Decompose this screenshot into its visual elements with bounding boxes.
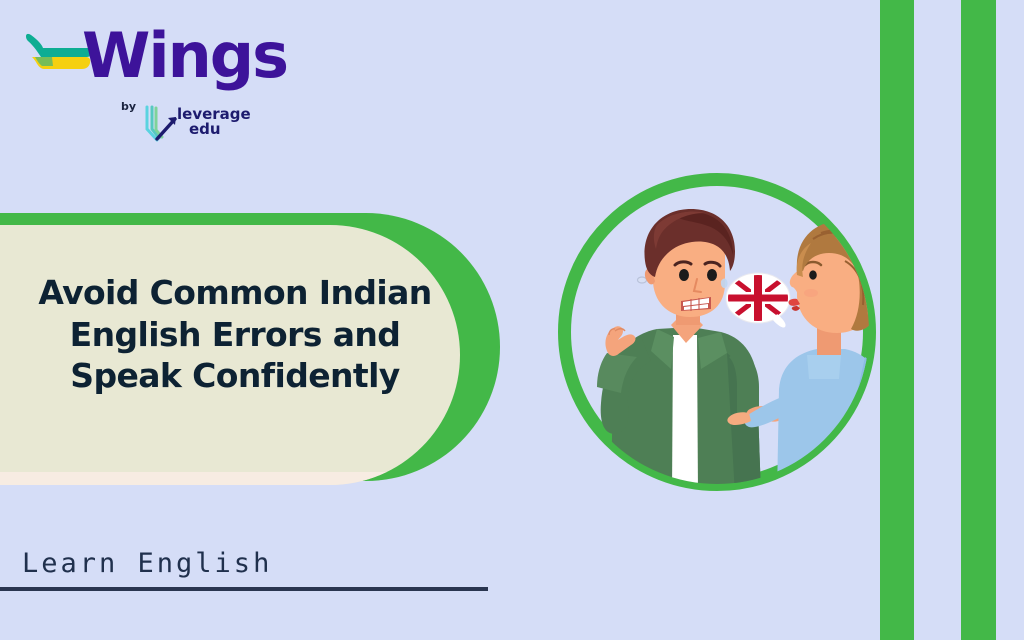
footer-divider: [0, 587, 488, 591]
illustration: ?: [545, 165, 895, 525]
man-figure: [597, 209, 783, 495]
logo-wordmark: Wings: [82, 25, 287, 87]
logo-by-label: by: [121, 100, 136, 113]
leverage-edu-checkmark-icon: [144, 105, 178, 143]
page-title: Avoid Common Indian English Errors and S…: [20, 272, 450, 397]
wings-leverage-edu-logo[interactable]: Wings by leverage edu: [22, 22, 252, 137]
uk-flag-speech-bubble: [726, 273, 790, 328]
leverage-edu-wordmark: leverage edu: [177, 107, 251, 137]
edu-label: edu: [189, 122, 251, 137]
category-label: Learn English: [22, 548, 272, 579]
green-vertical-bar-2: [961, 0, 996, 640]
two-people-illustration: ?: [545, 165, 895, 525]
banner-canvas: Wings by leverage edu Avoid Common India…: [0, 0, 1024, 640]
title-panel-footer-strip: [0, 472, 460, 485]
